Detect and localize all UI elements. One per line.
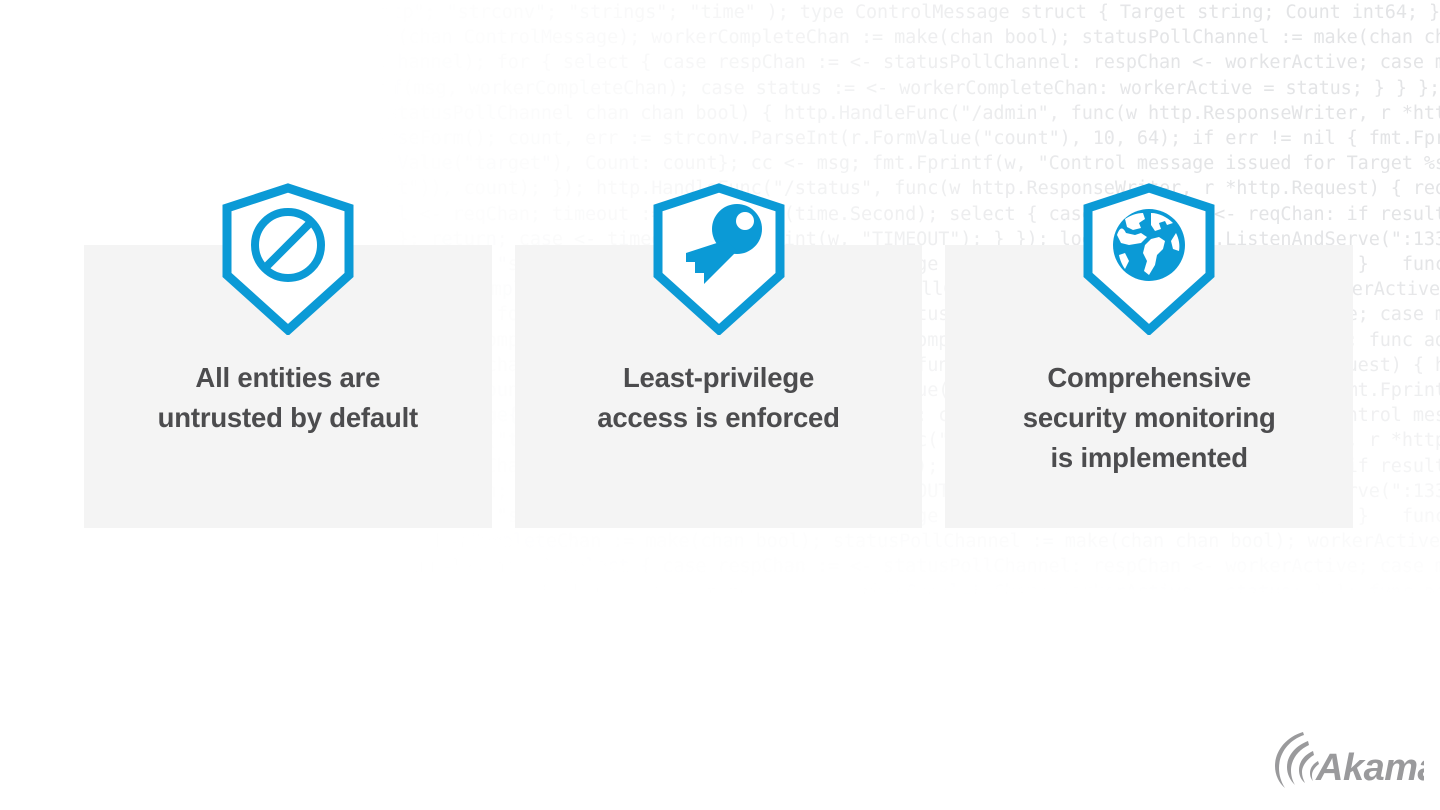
akamai-logo: Akamai [1272, 729, 1424, 791]
feature-card-monitoring: Comprehensive security monitoring is imp… [945, 245, 1353, 528]
code-background-line: func admin(cc chan ControlMessage, statu… [0, 101, 1440, 126]
feature-card-row: All entities are untrusted by default Le… [84, 245, 1353, 528]
code-background-line: import ( "fmt"; "net/http"; "strconv"; "… [0, 0, 1440, 25]
shield-prohibited-icon [220, 183, 356, 335]
feature-card-label: Least-privilege access is enforced [539, 358, 898, 438]
feature-card-label-line3: is implemented [970, 438, 1329, 478]
feature-card-label-line2: untrusted by default [108, 398, 467, 438]
feature-card-label-line1: All entities are [108, 358, 467, 398]
feature-card-least-privilege: Least-privilege access is enforced [515, 245, 923, 528]
code-background-line: msg := ControlMessage{Target: r.FormValu… [0, 151, 1440, 176]
code-background-line: func main() { controlChannel := make(cha… [0, 25, 1440, 50]
feature-card-label-line2: security monitoring [970, 398, 1329, 438]
code-background-line: workerActive = true; go doStuff(msg, wor… [0, 580, 1440, 605]
shield-globe-icon [1081, 183, 1217, 335]
feature-card-label: All entities are untrusted by default [108, 358, 467, 438]
feature-card-untrusted: All entities are untrusted by default [84, 245, 492, 528]
code-background-line: workerActive = true; go doStuff(msg, wor… [0, 76, 1440, 101]
feature-card-label: Comprehensive security monitoring is imp… [970, 358, 1329, 478]
feature-card-label-line2: access is enforced [539, 398, 898, 438]
shield-key-icon [651, 183, 787, 335]
code-background-line: := strings.Split(r.Host, ":"); r.ParseFo… [0, 126, 1440, 151]
code-background-line: go admin(controlChannel, statusPollChann… [0, 554, 1440, 579]
akamai-wordmark: Akamai [1315, 747, 1424, 789]
feature-card-label-line1: Comprehensive [970, 358, 1329, 398]
feature-card-label-line1: Least-privilege [539, 358, 898, 398]
code-background-line: make(chan ControlMessage); workerComplet… [0, 529, 1440, 554]
code-background-line: go admin(controlChannel, statusPollChann… [0, 50, 1440, 75]
akamai-wave-mark [1275, 732, 1319, 788]
